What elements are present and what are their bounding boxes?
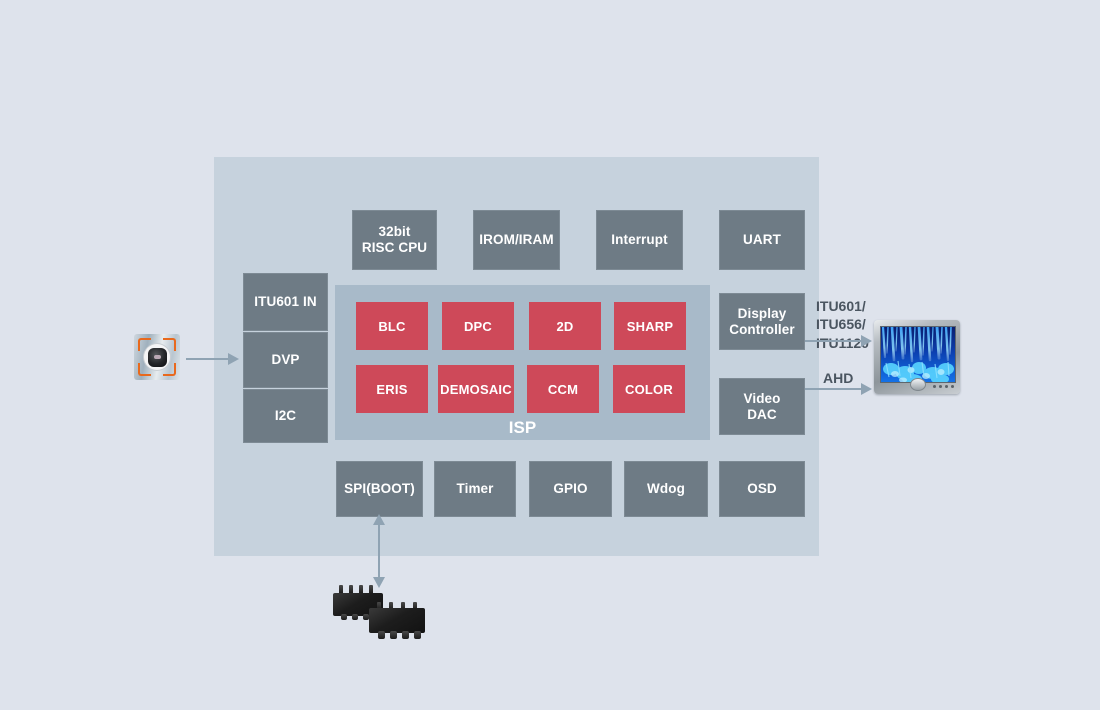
dac-output-arrow-line <box>805 388 863 390</box>
block-label-line2: Controller <box>729 322 795 338</box>
block-label: DVP <box>271 352 299 368</box>
block-label: Interrupt <box>611 232 667 248</box>
block-wdog[interactable]: Wdog <box>624 461 708 517</box>
lcd-monitor-icon <box>874 320 960 394</box>
block-spi-boot[interactable]: SPI(BOOT) <box>336 461 423 517</box>
block-label-line2: RISC CPU <box>362 240 427 256</box>
isp-block-ccm[interactable]: CCM <box>527 365 599 413</box>
block-dvp[interactable]: DVP <box>243 332 328 388</box>
monitor-screen-image <box>881 327 955 382</box>
block-label-line2: DAC <box>743 407 780 423</box>
monitor-buttons-icon <box>933 385 954 388</box>
flash-memory-chip-icon <box>333 583 428 638</box>
isp-block-dpc[interactable]: DPC <box>442 302 514 350</box>
isp-block-demosaic[interactable]: DEMOSAIC <box>438 365 514 413</box>
block-label-line1: Video <box>743 391 780 407</box>
block-label: I2C <box>275 408 296 424</box>
block-risc-cpu[interactable]: 32bit RISC CPU <box>352 210 437 270</box>
block-osd[interactable]: OSD <box>719 461 805 517</box>
camera-to-dvp-arrow-head <box>228 353 239 365</box>
block-interrupt[interactable]: Interrupt <box>596 210 683 270</box>
isp-block-sharp[interactable]: SHARP <box>614 302 686 350</box>
block-label: 2D <box>556 319 573 334</box>
dac-output-caption: AHD <box>823 369 853 387</box>
block-itu601-in[interactable]: ITU601 IN <box>243 273 328 331</box>
block-video-dac[interactable]: Video DAC <box>719 378 805 435</box>
camera-lens-highlight-icon <box>154 355 161 359</box>
block-label: Timer <box>456 481 493 497</box>
monitor-screen-icon <box>880 326 956 383</box>
dac-output-arrow-head <box>861 383 872 395</box>
block-label: CCM <box>548 382 578 397</box>
block-label: ERIS <box>376 382 407 397</box>
isp-title-label: ISP <box>335 418 710 438</box>
camera-module-icon <box>134 334 180 380</box>
display-output-arrow-head <box>861 335 872 347</box>
camera-lens-icon <box>144 344 170 370</box>
block-timer[interactable]: Timer <box>434 461 516 517</box>
spi-to-flash-arrow-head-up <box>373 514 385 525</box>
isp-block-blc[interactable]: BLC <box>356 302 428 350</box>
spi-to-flash-arrow-line <box>378 520 380 580</box>
block-label: ITU601 IN <box>254 294 316 310</box>
camera-lens-inner-icon <box>148 348 167 367</box>
diagram-canvas: ITU601 IN DVP I2C 32bit RISC CPU IROM/IR… <box>0 0 1100 710</box>
block-label: BLC <box>378 319 405 334</box>
block-uart[interactable]: UART <box>719 210 805 270</box>
camera-to-dvp-arrow-line <box>186 358 230 360</box>
isp-block-2d[interactable]: 2D <box>529 302 601 350</box>
monitor-stand-icon <box>910 378 926 391</box>
block-label: SHARP <box>627 319 674 334</box>
block-label: DPC <box>464 319 492 334</box>
block-label: GPIO <box>553 481 587 497</box>
block-label: SPI(BOOT) <box>344 481 415 497</box>
block-label: UART <box>743 232 781 248</box>
block-label: Wdog <box>647 481 685 497</box>
block-label: OSD <box>747 481 777 497</box>
block-gpio[interactable]: GPIO <box>529 461 612 517</box>
isp-block-eris[interactable]: ERIS <box>356 365 428 413</box>
block-label-line1: 32bit <box>362 224 427 240</box>
block-display-controller[interactable]: Display Controller <box>719 293 805 350</box>
block-i2c[interactable]: I2C <box>243 389 328 443</box>
block-label-line1: Display <box>729 306 795 322</box>
block-label: DEMOSAIC <box>440 382 512 397</box>
display-output-arrow-line <box>805 340 863 342</box>
isp-block-color[interactable]: COLOR <box>613 365 685 413</box>
block-irom-iram[interactable]: IROM/IRAM <box>473 210 560 270</box>
block-label: COLOR <box>625 382 673 397</box>
block-label: IROM/IRAM <box>479 232 553 248</box>
